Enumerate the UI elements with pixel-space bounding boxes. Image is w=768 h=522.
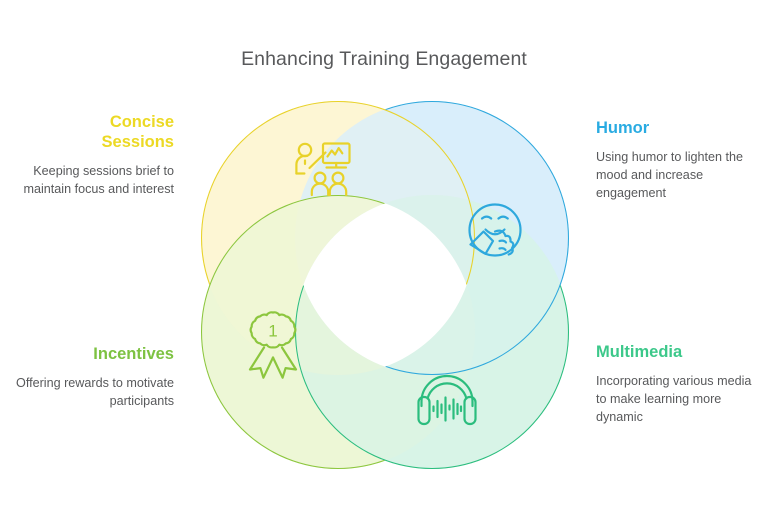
quadrant-desc-multimedia: Incorporating various media to make lear…	[596, 373, 762, 427]
quadrant-desc-incentives: Offering rewards to motivate participant…	[8, 375, 174, 411]
award-badge-number: 1	[268, 322, 277, 341]
venn-diagram: 1	[190, 85, 580, 485]
quadrant-heading-concise-line2: Sessions	[102, 133, 174, 151]
quadrant-heading-multimedia: Multimedia	[596, 342, 762, 362]
quadrant-heading-concise: Concise Sessions	[8, 112, 174, 152]
infographic-canvas: Enhancing Training Engagement	[0, 0, 768, 522]
quadrant-label-humor: Humor Using humor to lighten the mood an…	[596, 118, 762, 203]
quadrant-label-incentives: Incentives Offering rewards to motivate …	[8, 344, 174, 411]
page-title: Enhancing Training Engagement	[0, 48, 768, 71]
quadrant-label-multimedia: Multimedia Incorporating various media t…	[596, 342, 762, 427]
quadrant-desc-humor: Using humor to lighten the mood and incr…	[596, 149, 762, 203]
venn-fills	[201, 101, 569, 469]
quadrant-label-concise: Concise Sessions Keeping sessions brief …	[8, 112, 174, 199]
quadrant-heading-concise-line1: Concise	[110, 113, 174, 131]
quadrant-desc-concise: Keeping sessions brief to maintain focus…	[8, 163, 174, 199]
quadrant-heading-humor: Humor	[596, 118, 762, 138]
quadrant-heading-incentives: Incentives	[8, 344, 174, 364]
